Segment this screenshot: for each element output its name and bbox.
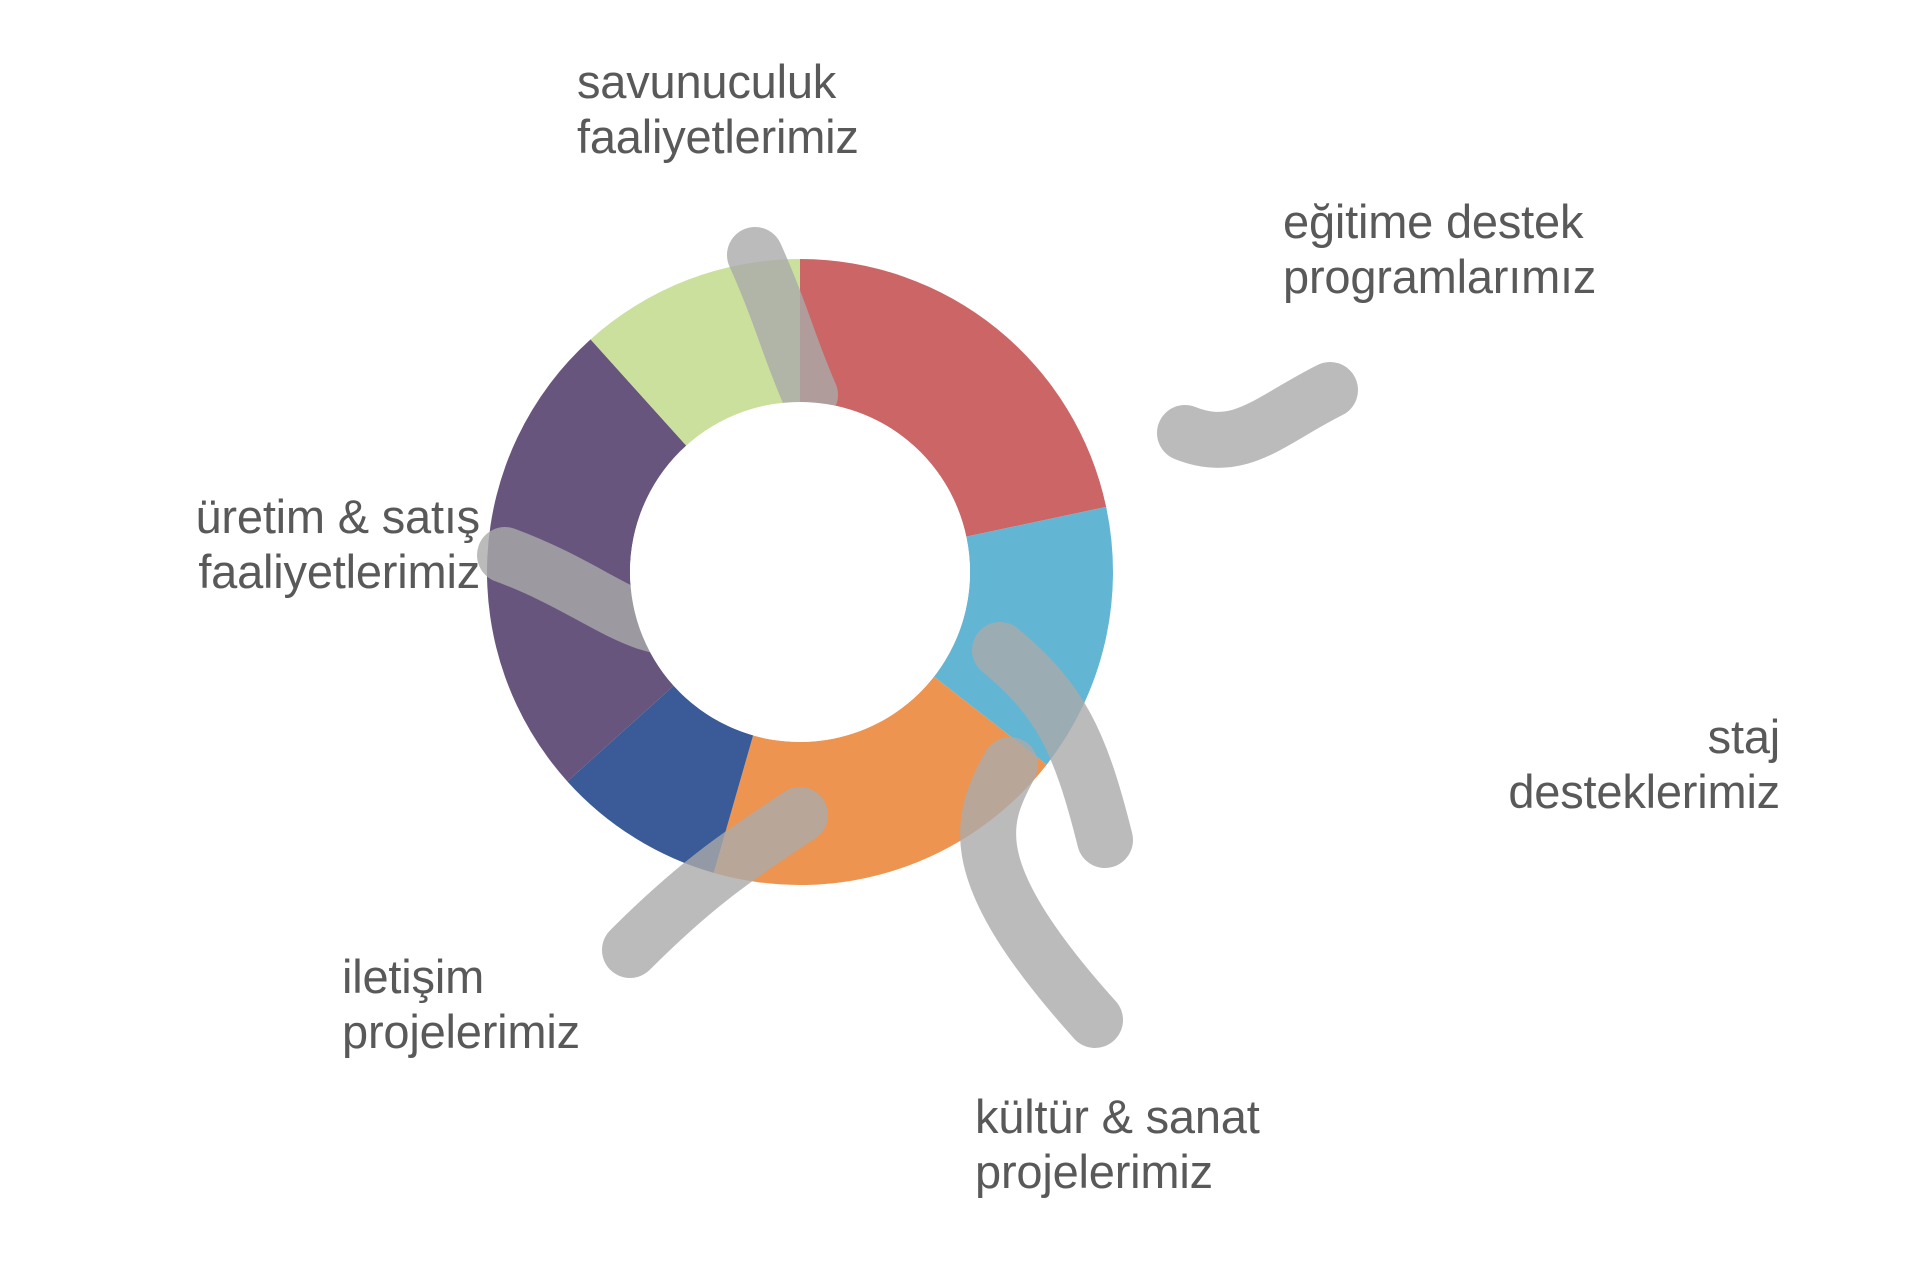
donut-chart-svg [0,0,1914,1278]
label-savunuculuk-faaliyetlerimiz: savunuculuk faaliyetlerimiz [577,55,997,164]
label-uretim-satis-faaliyetlerimiz: üretim & satış faaliyetlerimiz [40,490,480,599]
donut-center-hole [630,402,970,742]
leader-line-education [1185,390,1330,440]
label-egitime-destek-programlarimiz: eğitime destek programlarımız [1283,195,1763,304]
label-staj-desteklerimiz: staj desteklerimiz [1000,710,1780,819]
label-iletisim-projelerimiz: iletişim projelerimiz [342,950,762,1059]
label-kultur-sanat-projelerimiz: kültür & sanat projelerimiz [975,1090,1455,1199]
donut-chart-figure: { "chart_data": { "type": "pie", "varian… [0,0,1914,1278]
